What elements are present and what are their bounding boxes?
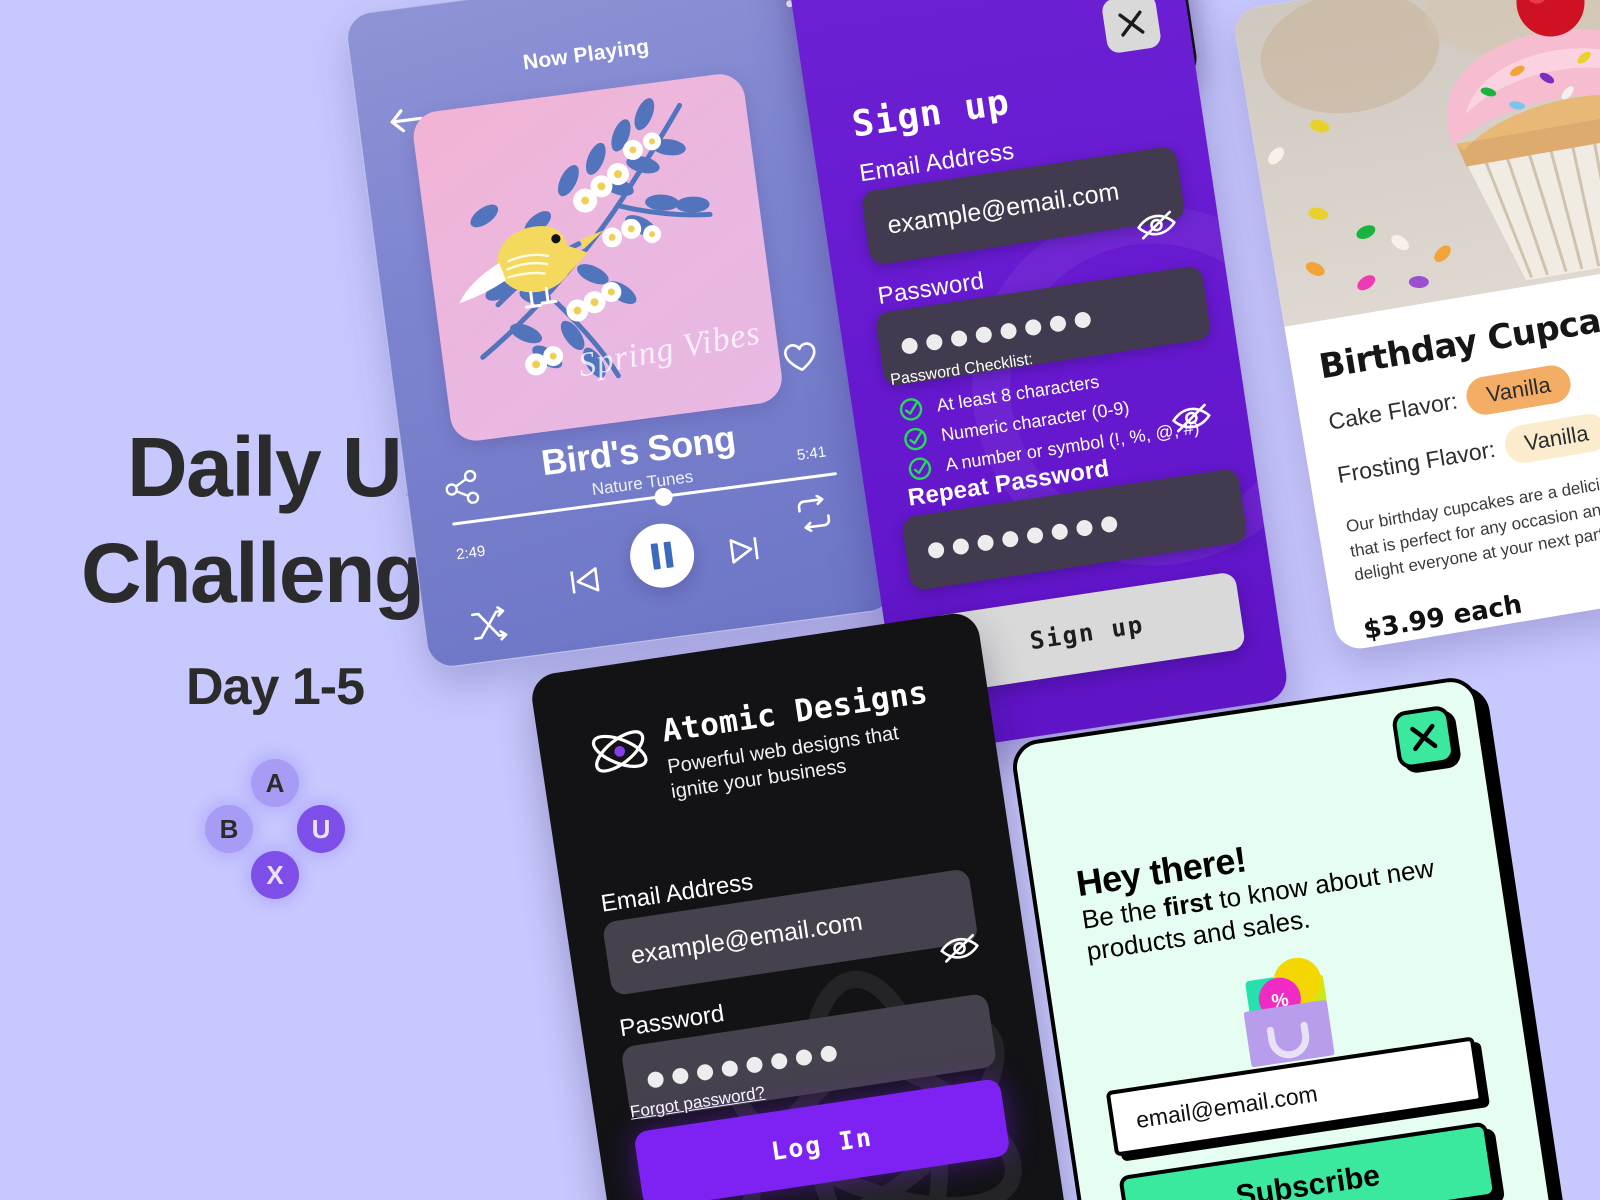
subscribe-email-value: email@email.com [1112,1080,1319,1137]
page-subtitle: Day 1-5 [60,657,490,717]
shopping-bag-icon: % [1218,946,1351,1075]
login-password-dots [625,1045,838,1092]
signup-password-dots [879,311,1092,358]
cake-flavor-pill[interactable]: Vanilla [1464,363,1573,418]
signup-email-value: example@email.com [864,177,1121,243]
player-controls [419,520,883,581]
signup-heading: Sign up [849,82,1012,146]
subscribe-body-bold: first [1161,886,1214,923]
abux-logo: A B U X [205,759,345,899]
signup-repeat-dots [905,515,1118,562]
shuffle-icon[interactable] [468,604,511,650]
eye-off-icon[interactable] [1170,401,1214,440]
heart-icon[interactable] [782,340,820,380]
login-email-value: example@email.com [605,907,864,974]
cupcake-product-card: Birthday Cupcake Cake Flavor: Vanilla Fr… [1232,0,1600,652]
subscribe-card: Hey there! Be the first to know about ne… [1009,674,1557,1200]
logo-letter-a: A [251,759,299,807]
check-circle-icon [897,396,924,423]
pause-icon[interactable] [626,520,698,592]
now-playing-label: Now Playing [353,13,820,98]
close-icon[interactable] [1101,0,1162,54]
next-track-icon[interactable] [726,533,762,572]
share-icon[interactable] [444,469,483,512]
logo-letter-b: B [205,805,253,853]
frosting-flavor-pill[interactable]: Vanilla [1502,411,1600,466]
check-circle-icon [902,425,929,452]
atom-icon [584,716,655,791]
cake-flavor-label: Cake Flavor: [1326,387,1459,435]
login-brand-header: Atomic Designs Powerful web designs that… [537,666,998,824]
previous-track-icon[interactable] [567,564,603,603]
cupcake-photo [1232,0,1600,327]
album-art: Spring Vibes [410,71,784,444]
logo-letter-u: U [297,805,345,853]
eye-off-icon[interactable] [1135,208,1179,247]
close-icon[interactable] [1391,704,1457,770]
frosting-flavor-label: Frosting Flavor: [1335,435,1497,488]
title-line-1: Daily UI [127,420,423,514]
eye-off-icon[interactable] [938,932,982,971]
repeat-icon[interactable] [792,493,837,539]
check-circle-icon [906,455,933,482]
canvas: Daily UI Challenge Day 1-5 A B U X Now P… [0,0,1600,1200]
logo-letter-x: X [251,851,299,899]
time-elapsed: 2:49 [455,543,486,564]
